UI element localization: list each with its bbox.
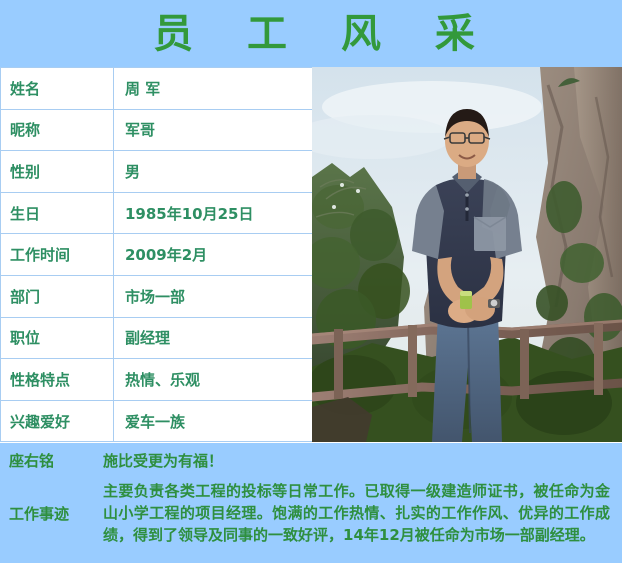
row-label-gender: 性别: [1, 151, 114, 193]
employee-profile-page: 员 工 风 采 姓名 周 军 昵称 军哥 性别 男 生日 1985年10月25日…: [0, 0, 622, 563]
row-label-nickname: 昵称: [1, 109, 114, 151]
row-value-name: 周 军: [114, 68, 335, 110]
row-value-nickname: 军哥: [114, 109, 335, 151]
row-value-work-start: 2009年2月: [114, 234, 335, 276]
row-value-birthday: 1985年10月25日: [114, 192, 335, 234]
table-row: 昵称 军哥: [1, 109, 335, 151]
row-label-name: 姓名: [1, 68, 114, 110]
row-label-work-start: 工作时间: [1, 234, 114, 276]
table-row: 工作时间 2009年2月: [1, 234, 335, 276]
row-label-personality: 性格特点: [1, 359, 114, 401]
motto-label: 座右铭: [0, 450, 103, 471]
profile-table-body: 姓名 周 军 昵称 军哥 性别 男 生日 1985年10月25日 工作时间 20…: [1, 68, 335, 442]
table-row: 性别 男: [1, 151, 335, 193]
motto-value: 施比受更为有福！: [103, 450, 622, 472]
row-label-department: 部门: [1, 275, 114, 317]
employee-photo-image: [312, 67, 622, 442]
row-value-department: 市场一部: [114, 275, 335, 317]
profile-table: 姓名 周 军 昵称 军哥 性别 男 生日 1985年10月25日 工作时间 20…: [0, 67, 335, 442]
page-title: 员 工 风 采: [127, 12, 495, 56]
row-value-position: 副经理: [114, 317, 335, 359]
employee-photo: [312, 67, 622, 442]
motto-row: 座右铭 施比受更为有福！: [0, 443, 622, 472]
row-value-hobby: 爱车一族: [114, 400, 335, 442]
row-label-position: 职位: [1, 317, 114, 359]
deeds-value: 主要负责各类工程的投标等日常工作。已取得一级建造师证书，被任命为金山小学工程的项…: [103, 480, 622, 546]
row-value-gender: 男: [114, 151, 335, 193]
table-row: 性格特点 热情、乐观: [1, 359, 335, 401]
row-label-hobby: 兴趣爱好: [1, 400, 114, 442]
table-row: 姓名 周 军: [1, 68, 335, 110]
table-row: 职位 副经理: [1, 317, 335, 359]
table-row: 生日 1985年10月25日: [1, 192, 335, 234]
table-row: 兴趣爱好 爱车一族: [1, 400, 335, 442]
footer-panel: 座右铭 施比受更为有福！ 工作事迹 主要负责各类工程的投标等日常工作。已取得一级…: [0, 443, 622, 563]
deeds-label: 工作事迹: [0, 503, 103, 524]
row-label-birthday: 生日: [1, 192, 114, 234]
table-row: 部门 市场一部: [1, 275, 335, 317]
page-header: 员 工 风 采: [0, 0, 622, 67]
deeds-row: 工作事迹 主要负责各类工程的投标等日常工作。已取得一级建造师证书，被任命为金山小…: [0, 472, 622, 546]
row-value-personality: 热情、乐观: [114, 359, 335, 401]
